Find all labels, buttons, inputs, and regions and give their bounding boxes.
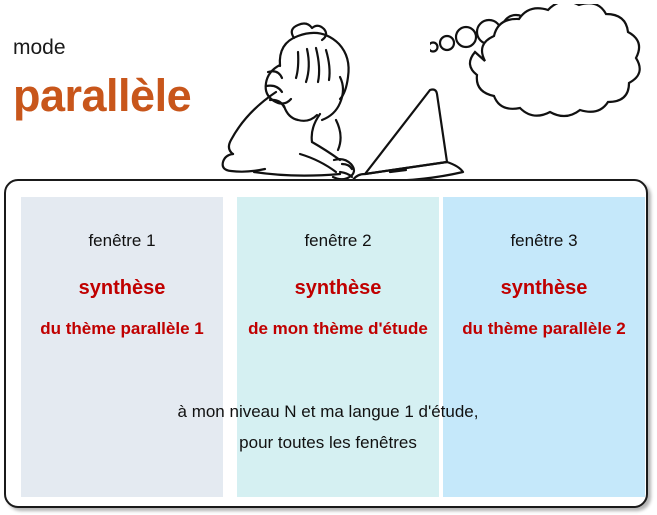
synthese-label-2: synthèse [237,275,439,301]
synthese-label-3: synthèse [443,275,645,301]
windows-columns: fenêtre 1 synthèse du thème parallèle 1 … [6,181,650,510]
parallel-mode-panel: fenêtre 1 synthèse du thème parallèle 1 … [4,179,648,508]
window-column-2[interactable]: fenêtre 2 synthèse de mon thème d'étude [237,197,439,497]
thought-dot-2 [440,36,454,50]
header: mode parallèle [0,0,657,180]
thought-dot-3 [456,27,476,47]
window-label-1: fenêtre 1 [21,230,223,252]
synthese-label-1: synthèse [21,275,223,301]
window-column-3[interactable]: fenêtre 3 synthèse du thème parallèle 2 [443,197,645,497]
synthese-desc-3: du thème parallèle 2 [443,317,645,340]
mode-title: parallèle [13,70,191,122]
synthese-desc-1: du thème parallèle 1 [21,317,223,340]
thought-dot-1 [430,43,438,52]
window-label-3: fenêtre 3 [443,230,645,252]
thought-bubble: j'apprends mieux par comparaison [430,4,657,154]
synthese-desc-2: de mon thème d'étude [237,317,439,340]
window-label-2: fenêtre 2 [237,230,439,252]
window-column-1[interactable]: fenêtre 1 synthèse du thème parallèle 1 [21,197,223,497]
mode-label: mode [13,36,66,60]
